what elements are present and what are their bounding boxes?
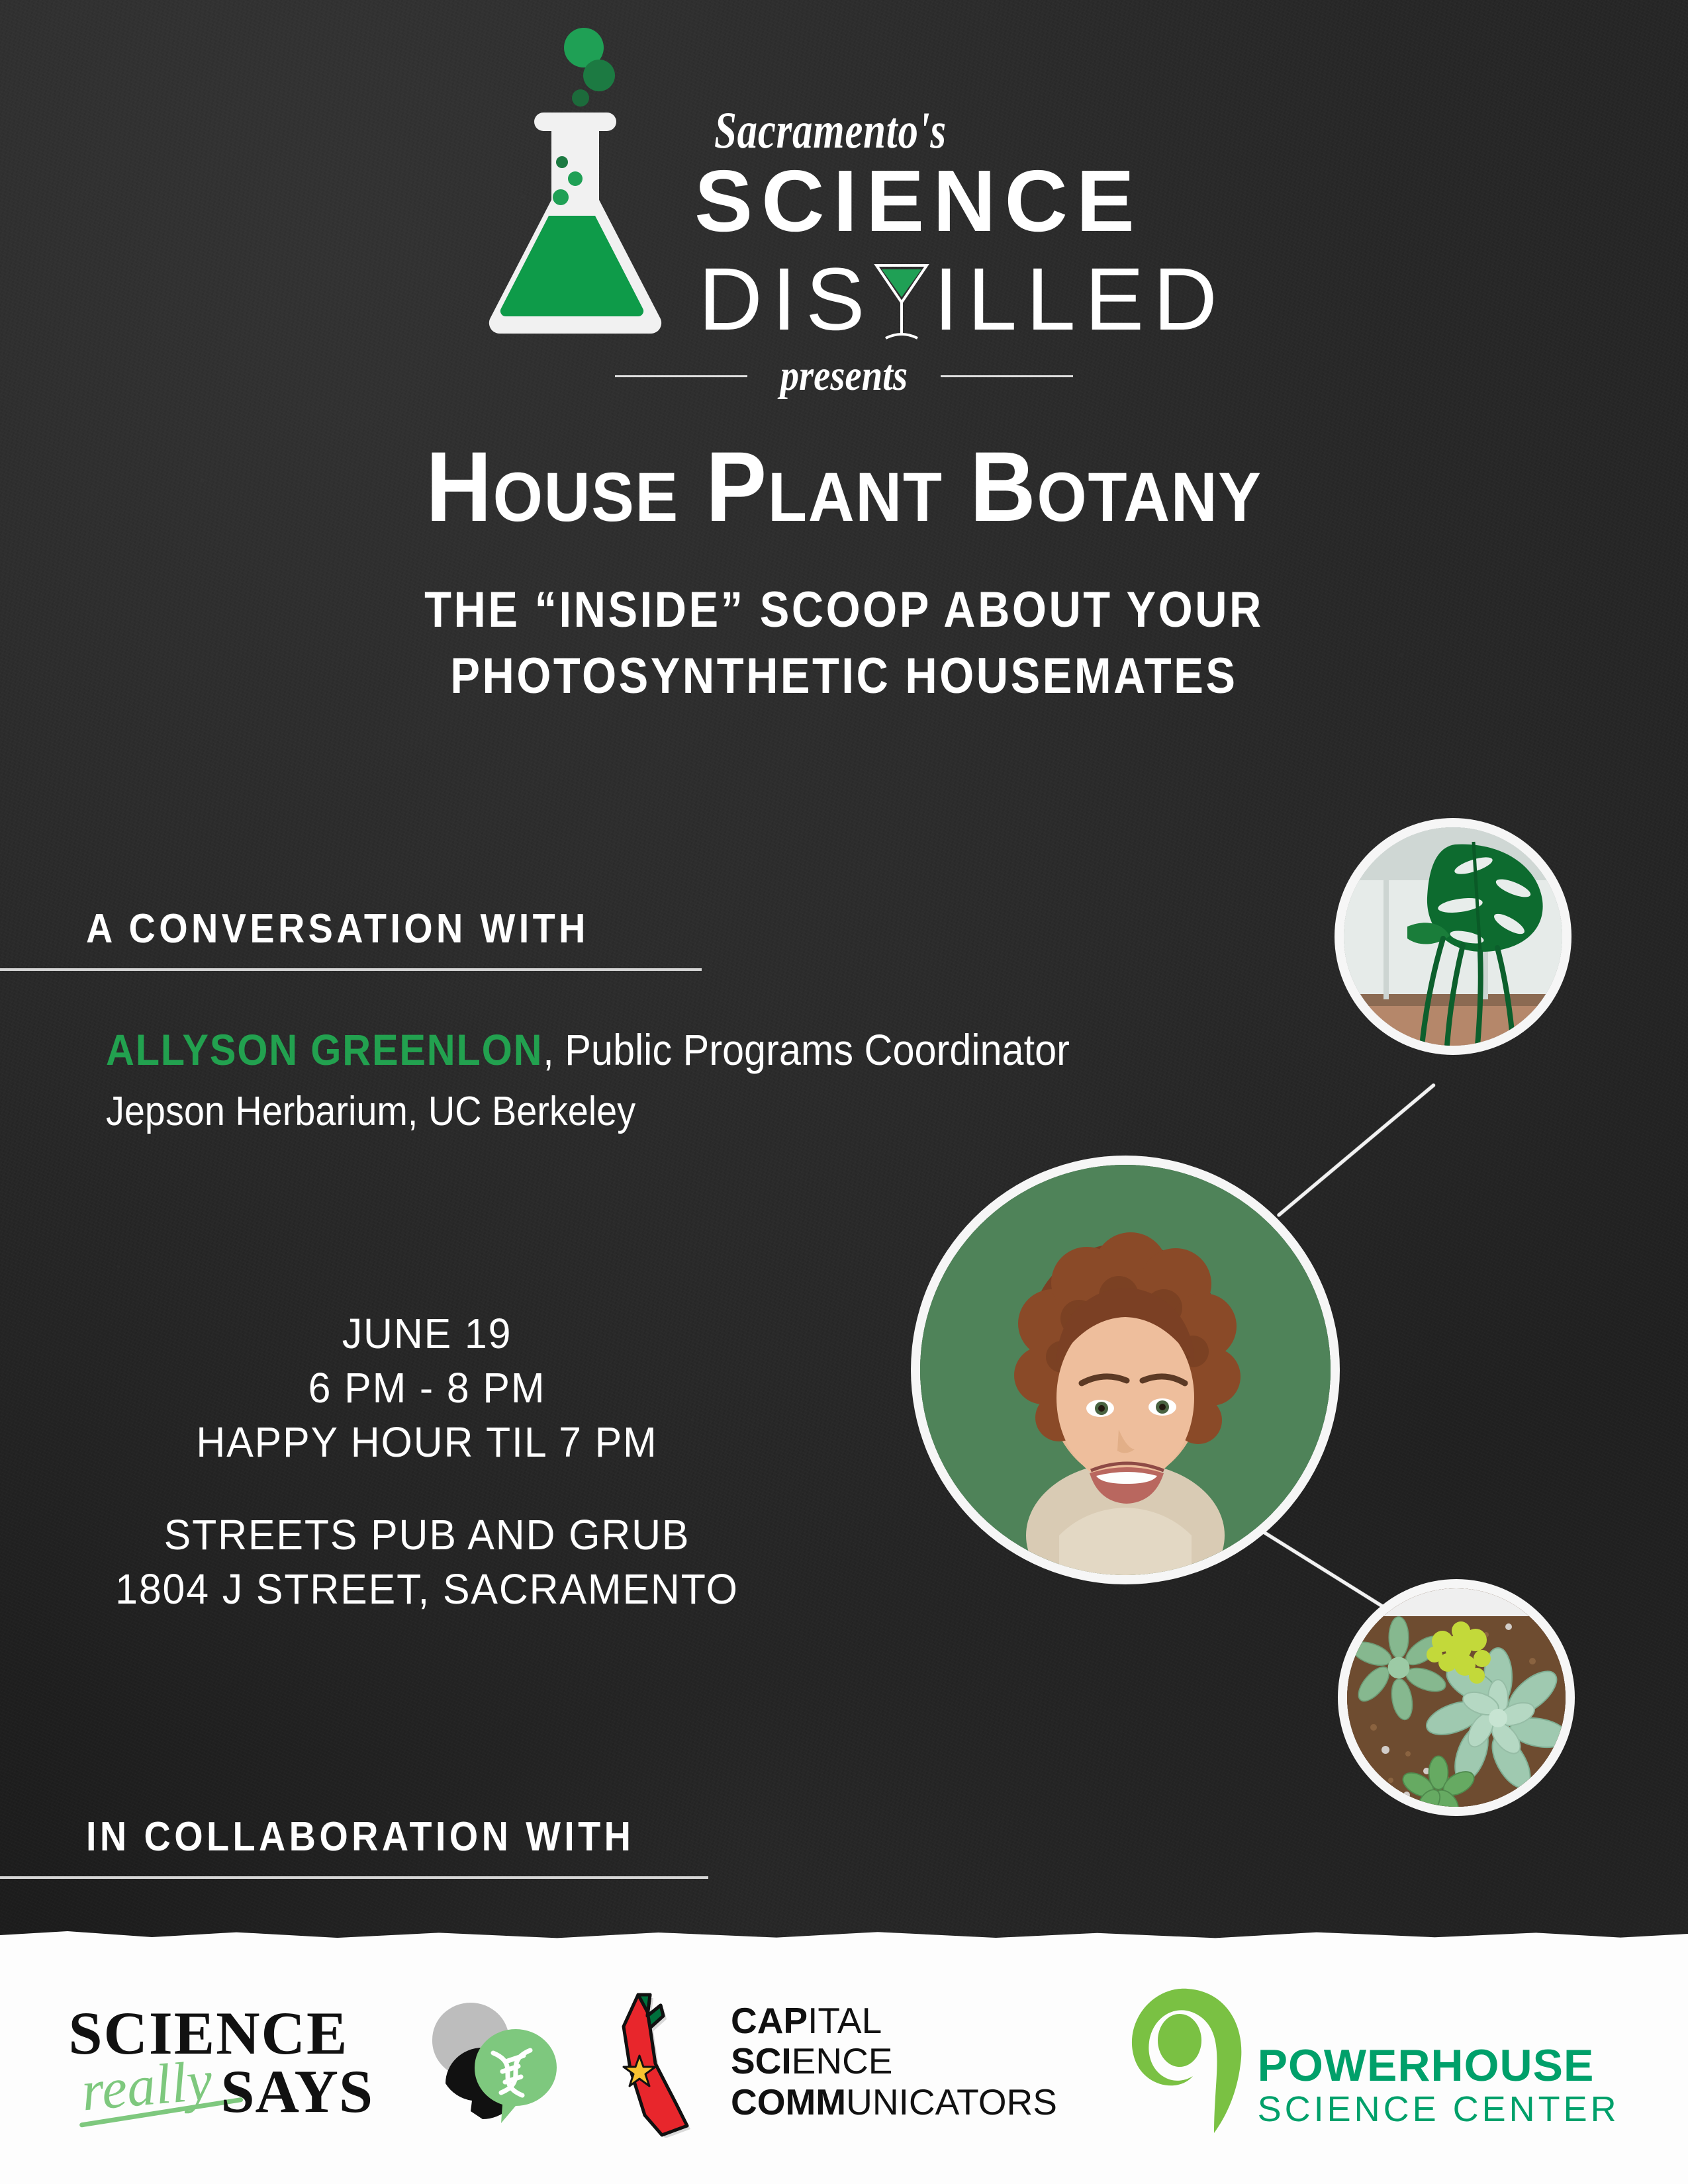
csc-line1-rest: ITAL [808, 2000, 882, 2041]
csc-line2-bold: SCI [731, 2040, 792, 2081]
partner-logo-capital-science-communicators[interactable]: CAPITAL SCIENCE COMMUNICATORS [614, 1985, 1057, 2138]
speaker-name-line: ALLYSON GREENLON, Public Programs Coordi… [106, 1024, 1154, 1076]
succulents-photo [1347, 1588, 1566, 1807]
details-spacer [0, 1470, 854, 1508]
event-venue: STREETS PUB AND GRUB [21, 1508, 833, 1563]
california-state-star-icon [614, 1985, 714, 2138]
csc-line-3: COMMUNICATORS [731, 2082, 1057, 2123]
page-subtitle: THE “INSIDE” SCOOP ABOUT YOUR PHOTOSYNTH… [101, 577, 1587, 710]
event-date: JUNE 19 [21, 1307, 833, 1361]
phsc-line-1: POWERHOUSE [1258, 2043, 1620, 2089]
srs-really-word: really [79, 2047, 214, 2124]
partner-logos-footer: SCIENCE really SAYS [0, 1939, 1688, 2184]
distilled-prefix: DIS [698, 255, 874, 344]
erlenmeyer-flask-icon [461, 20, 680, 351]
srs-wordmark: SCIENCE really SAYS [68, 1995, 412, 2128]
brand-name: SCIENCE [694, 158, 1227, 245]
conversation-section-header: A CONVERSATION WITH [0, 905, 702, 971]
csc-line-2: SCIENCE [731, 2041, 1057, 2082]
csc-line3-bold: COMM [731, 2081, 846, 2122]
speaker-name: ALLYSON GREENLON [106, 1025, 543, 1074]
presents-row: presents [0, 351, 1688, 401]
speaker-portrait-photo [920, 1165, 1331, 1575]
presents-rule-left [615, 375, 747, 377]
brand-prefix: Sacramento's [714, 106, 1114, 155]
subtitle-line-2: PHOTOSYNTHETIC HOUSEMATES [101, 643, 1587, 709]
speaker-block: ALLYSON GREENLON, Public Programs Coordi… [106, 1024, 1271, 1135]
brand-wordmark: Sacramento's SCIENCE DIS ILLED [694, 20, 1227, 349]
collaboration-section-header: IN COLLABORATION WITH [0, 1813, 708, 1879]
csc-wordmark: CAPITAL SCIENCE COMMUNICATORS [731, 2001, 1057, 2123]
speaker-affiliation: Jepson Herbarium, UC Berkeley [106, 1088, 1154, 1135]
subtitle-line-1: THE “INSIDE” SCOOP ABOUT YOUR [424, 582, 1264, 638]
brand-distilled: DIS ILLED [698, 250, 1227, 349]
collaboration-heading: IN COLLABORATION WITH [86, 1813, 634, 1860]
page-title: House Plant Botany [68, 437, 1620, 536]
presents-label: presents [780, 351, 908, 401]
powerhouse-swirl-icon [1115, 1977, 1254, 2142]
csc-line1-bold: CAP [731, 2000, 808, 2041]
monstera-houseplant-photo [1344, 827, 1562, 1046]
collaboration-heading-rule [0, 1876, 708, 1879]
event-time: 6 PM - 8 PM [21, 1361, 833, 1416]
event-address: 1804 J STREET, SACRAMENTO [21, 1563, 833, 1617]
conversation-heading-rule [0, 968, 702, 971]
event-poster: Sacramento's SCIENCE DIS ILLED presents [0, 0, 1688, 2184]
event-details: JUNE 19 6 PM - 8 PM HAPPY HOUR TIL 7 PM … [0, 1307, 854, 1617]
phsc-line-2: SCIENCE CENTER [1258, 2089, 1620, 2129]
partner-logo-science-really-says[interactable]: SCIENCE really SAYS [68, 1995, 557, 2128]
partner-logo-powerhouse-science-center[interactable]: POWERHOUSE SCIENCE CENTER [1115, 1977, 1620, 2146]
event-happy-hour: HAPPY HOUR TIL 7 PM [21, 1416, 833, 1470]
brand-logo: Sacramento's SCIENCE DIS ILLED [0, 20, 1688, 351]
distilled-suffix: ILLED [933, 255, 1226, 344]
speaker-role: , Public Programs Coordinator [543, 1025, 1070, 1074]
csc-line2-rest: ENCE [792, 2040, 893, 2081]
csc-line-1: CAPITAL [731, 2001, 1057, 2042]
martini-glass-icon [871, 256, 932, 343]
conversation-heading: A CONVERSATION WITH [86, 905, 589, 952]
csc-line3-rest: UNICATORS [846, 2081, 1057, 2122]
phsc-wordmark: POWERHOUSE SCIENCE CENTER [1258, 2043, 1620, 2129]
speech-bubbles-dna-icon [424, 1999, 557, 2124]
srs-says-word: SAYS [220, 2056, 373, 2126]
presents-rule-right [941, 375, 1073, 377]
